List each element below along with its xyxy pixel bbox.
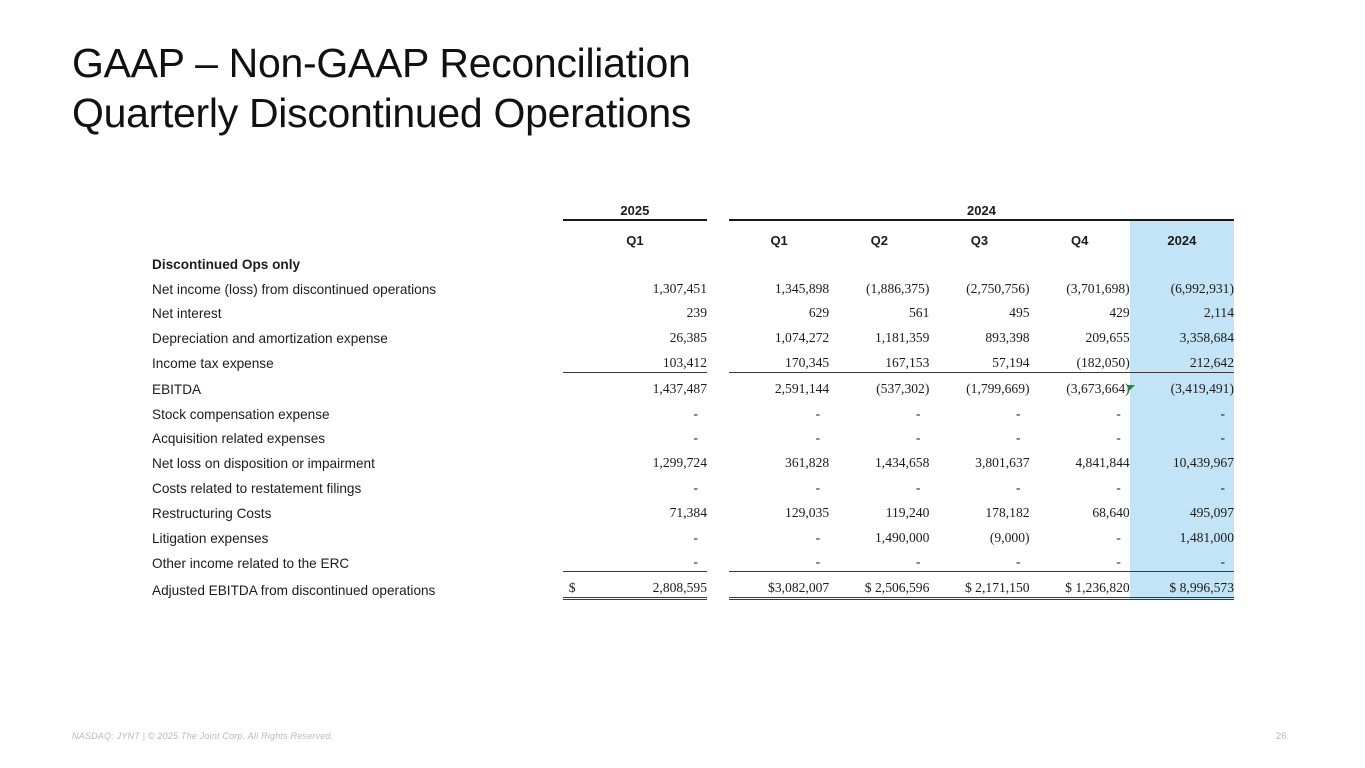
row-gap [707,522,729,547]
row-gap [707,547,729,572]
cell-q1-2025: - [563,522,707,547]
page-title: GAAP – Non-GAAP Reconciliation Quarterly… [72,38,1172,138]
cell-q2-2024: - [829,472,929,497]
cell-q2-2024: (1,886,375) [829,273,929,298]
cell-q1-2025: 103,412 [563,347,707,372]
group-header-gap [707,196,729,220]
cell-q1-2024: 361,828 [729,447,829,472]
cell-q1-2025: - [563,472,707,497]
total-row-gap [707,572,729,599]
row-gap [707,398,729,423]
cell-q1-2025: - [563,423,707,448]
cell-q3-2024: 495 [929,298,1029,323]
cell-q1-2024: - [729,398,829,423]
section-spacer [1030,248,1130,273]
cell-q1-2024: - [729,522,829,547]
cell-q1-2024: - [729,547,829,572]
cell-total-2024: 10,439,967 [1130,447,1234,472]
column-header-label-spacer [152,220,563,248]
cell-q3-2024: (2,750,756) [929,273,1029,298]
row-label: Stock compensation expense [152,398,563,423]
cell-q4-2024: 429 [1030,298,1130,323]
cell-q2-2024: 1,434,658 [829,447,929,472]
row-label: Depreciation and amortization expense [152,322,563,347]
cell-q2-2024: 1,490,000 [829,522,929,547]
row-label: Restructuring Costs [152,497,563,522]
cell-total-q1-2024: $3,082,007 [729,572,829,599]
row-label: Net loss on disposition or impairment [152,447,563,472]
cell-total-2024: (3,419,491) [1130,372,1234,397]
column-header-q1-2025: Q1 [563,220,707,248]
cell-q3-2024: - [929,472,1029,497]
footer-copyright: NASDAQ: JYNT | © 2025 The Joint Corp. Al… [72,731,333,741]
cell-q3-2024: - [929,423,1029,448]
row-gap [707,322,729,347]
cell-total-2024: 495,097 [1130,497,1234,522]
section-spacer [729,248,829,273]
row-gap [707,372,729,397]
cell-q1-2025: - [563,398,707,423]
table-row: Net interest2396295614954292,114 [152,298,1234,323]
column-header-gap [707,220,729,248]
cell-q4-2024: - [1030,398,1130,423]
cell-q1-2024: 129,035 [729,497,829,522]
cell-q1-2024: 2,591,144 [729,372,829,397]
cell-q3-2024: 57,194 [929,347,1029,372]
group-header-spacer [152,196,563,220]
cell-total-2024: 1,481,000 [1130,522,1234,547]
cell-q1-2025: 239 [563,298,707,323]
table-row: Stock compensation expense------ [152,398,1234,423]
cell-q4-2024: 4,841,844 [1030,447,1130,472]
table-grid: 20252024Q1Q1Q2Q3Q42024Discontinued Ops o… [152,196,1234,600]
table-row: EBITDA1,437,4872,591,144(537,302)(1,799,… [152,372,1234,397]
cell-q3-2024: 178,182 [929,497,1029,522]
row-label: Other income related to the ERC [152,547,563,572]
cell-q1-2024: - [729,472,829,497]
table-row: Other income related to the ERC------ [152,547,1234,572]
table-row: Net loss on disposition or impairment1,2… [152,447,1234,472]
cell-q2-2024: 167,153 [829,347,929,372]
row-gap [707,497,729,522]
section-spacer-total [1130,248,1234,273]
cell-q2-2024: - [829,398,929,423]
row-label: Net interest [152,298,563,323]
cell-total-q2-2024: $ 2,506,596 [829,572,929,599]
group-header-2025: 2025 [563,196,707,220]
cell-q1-2025: 1,307,451 [563,273,707,298]
section-spacer [829,248,929,273]
cell-total-q1-2025: $2,808,595 [563,572,707,599]
group-header-2024: 2024 [729,196,1234,220]
cell-q1-2024: 1,074,272 [729,322,829,347]
cell-q4-2024: - [1030,547,1130,572]
table-row: Costs related to restatement filings----… [152,472,1234,497]
column-header-q4-2024: Q4 [1030,220,1130,248]
table-column-header-row: Q1Q1Q2Q3Q42024 [152,220,1234,248]
cell-q4-2024: (182,050) [1030,347,1130,372]
cell-q1-2024: 629 [729,298,829,323]
cell-q3-2024: (9,000) [929,522,1029,547]
cell-q3-2024: (1,799,669) [929,372,1029,397]
cell-q2-2024: - [829,547,929,572]
row-label: Net income (loss) from discontinued oper… [152,273,563,298]
cell-q4-2024: (3,701,698) [1030,273,1130,298]
cell-q2-2024: 119,240 [829,497,929,522]
cell-total-2024: 2,114 [1130,298,1234,323]
row-label: Costs related to restatement filings [152,472,563,497]
table-row: Litigation expenses--1,490,000(9,000)-1,… [152,522,1234,547]
section-gap [707,248,729,273]
table-row: Restructuring Costs71,384129,035119,2401… [152,497,1234,522]
cell-q1-2025: - [563,547,707,572]
table-total-row: Adjusted EBITDA from discontinued operat… [152,572,1234,599]
column-header-q3-2024: Q3 [929,220,1029,248]
cell-q2-2024: (537,302) [829,372,929,397]
row-label: EBITDA [152,372,563,397]
cell-q1-2024: - [729,423,829,448]
table-row: Income tax expense103,412170,345167,1535… [152,347,1234,372]
cell-q4-2024: (3,673,664) [1030,372,1130,397]
cell-q1-2025: 1,437,487 [563,372,707,397]
cell-q1-2024: 1,345,898 [729,273,829,298]
section-label: Discontinued Ops only [152,248,563,273]
section-spacer [929,248,1029,273]
cell-q4-2024: 209,655 [1030,322,1130,347]
cell-total-2024: - [1130,423,1234,448]
cell-q3-2024: 3,801,637 [929,447,1029,472]
cell-total-2024: - [1130,472,1234,497]
row-gap [707,273,729,298]
cell-comment-marker-icon [1128,385,1135,392]
column-header-q1-2024: Q1 [729,220,829,248]
cell-total-q4-2024: $ 1,236,820 [1030,572,1130,599]
table-row: Acquisition related expenses------ [152,423,1234,448]
cell-total-2024-grand: $ 8,996,573 [1130,572,1234,599]
row-gap [707,423,729,448]
column-header-2024-2024: 2024 [1130,220,1234,248]
section-spacer-2025 [563,248,707,273]
row-gap [707,447,729,472]
cell-total-2024: - [1130,398,1234,423]
cell-q1-2025: 26,385 [563,322,707,347]
cell-q1-2025: 71,384 [563,497,707,522]
table-section-row: Discontinued Ops only [152,248,1234,273]
row-gap [707,347,729,372]
cell-total-q1-2025-value: 2,808,595 [653,580,707,595]
cell-q4-2024: 68,640 [1030,497,1130,522]
cell-q1-2025: 1,299,724 [563,447,707,472]
cell-total-2024: - [1130,547,1234,572]
cell-q2-2024: 1,181,359 [829,322,929,347]
row-gap [707,472,729,497]
cell-total-2024: 212,642 [1130,347,1234,372]
cell-q4-2024: - [1030,522,1130,547]
cell-q4-2024: - [1030,472,1130,497]
financial-reconciliation-table: 20252024Q1Q1Q2Q3Q42024Discontinued Ops o… [152,196,1234,600]
row-label: Income tax expense [152,347,563,372]
cell-q2-2024: - [829,423,929,448]
currency-symbol: $ [563,580,576,596]
cell-q4-2024: - [1030,423,1130,448]
page-number: 26 [1276,731,1287,742]
cell-q3-2024: 893,398 [929,322,1029,347]
cell-q3-2024: - [929,398,1029,423]
table-row: Net income (loss) from discontinued oper… [152,273,1234,298]
cell-total-2024: (6,992,931) [1130,273,1234,298]
row-gap [707,298,729,323]
table-group-header-row: 20252024 [152,196,1234,220]
cell-q2-2024: 561 [829,298,929,323]
table-row: Depreciation and amortization expense26,… [152,322,1234,347]
total-row-label: Adjusted EBITDA from discontinued operat… [152,572,563,599]
row-label: Acquisition related expenses [152,423,563,448]
column-header-q2-2024: Q2 [829,220,929,248]
cell-total-2024: 3,358,684 [1130,322,1234,347]
cell-q1-2024: 170,345 [729,347,829,372]
cell-q3-2024: - [929,547,1029,572]
cell-total-q3-2024: $ 2,171,150 [929,572,1029,599]
row-label: Litigation expenses [152,522,563,547]
